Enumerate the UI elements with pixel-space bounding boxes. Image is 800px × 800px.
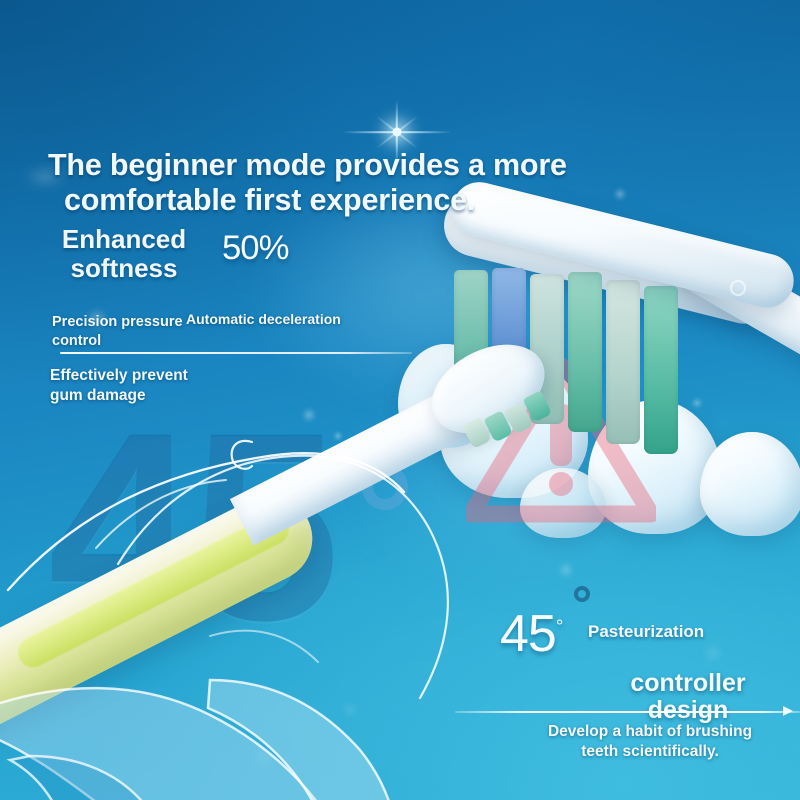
bokeh-bubble bbox=[340, 700, 360, 720]
bristle-tuft bbox=[568, 272, 602, 432]
headline-line-2: comfortable first experience. bbox=[48, 183, 648, 218]
bristle-tuft bbox=[606, 280, 640, 444]
feature-automatic-deceleration: Automatic deceleration bbox=[186, 311, 341, 327]
bokeh-bubble bbox=[556, 560, 576, 580]
arrow-right-icon bbox=[783, 706, 793, 716]
bristle-tuft bbox=[644, 286, 678, 454]
bokeh-bubble bbox=[700, 640, 726, 666]
percent-symbol: % bbox=[259, 229, 289, 267]
controller-design-label: controllerdesign bbox=[588, 670, 788, 723]
percent-number: 50 bbox=[222, 229, 259, 267]
bokeh-bubble bbox=[248, 742, 278, 772]
divider-lower bbox=[455, 711, 800, 713]
headline-line-1: The beginner mode provides a more bbox=[48, 148, 567, 182]
develop-habit-caption: Develop a habit of brushingteeth scienti… bbox=[500, 722, 800, 762]
bokeh-ring bbox=[574, 586, 590, 602]
page-title: The beginner mode provides a more comfor… bbox=[48, 148, 648, 219]
sparkle-icon bbox=[396, 131, 398, 133]
angle-degree: ° bbox=[556, 616, 562, 637]
percent-value: 50% bbox=[222, 207, 289, 272]
angle-number: 45 bbox=[500, 605, 556, 663]
pasteurization-label: Pasteurization bbox=[588, 622, 704, 642]
feature-effectively-prevent-gum-damage: Effectively preventgum damage bbox=[50, 366, 280, 406]
divider-upper bbox=[60, 352, 412, 354]
angle-45-degrees: 45° bbox=[500, 604, 562, 664]
product-poster: 45° bbox=[0, 0, 800, 800]
enhanced-softness-label: Enhancedsoftness bbox=[24, 225, 224, 282]
